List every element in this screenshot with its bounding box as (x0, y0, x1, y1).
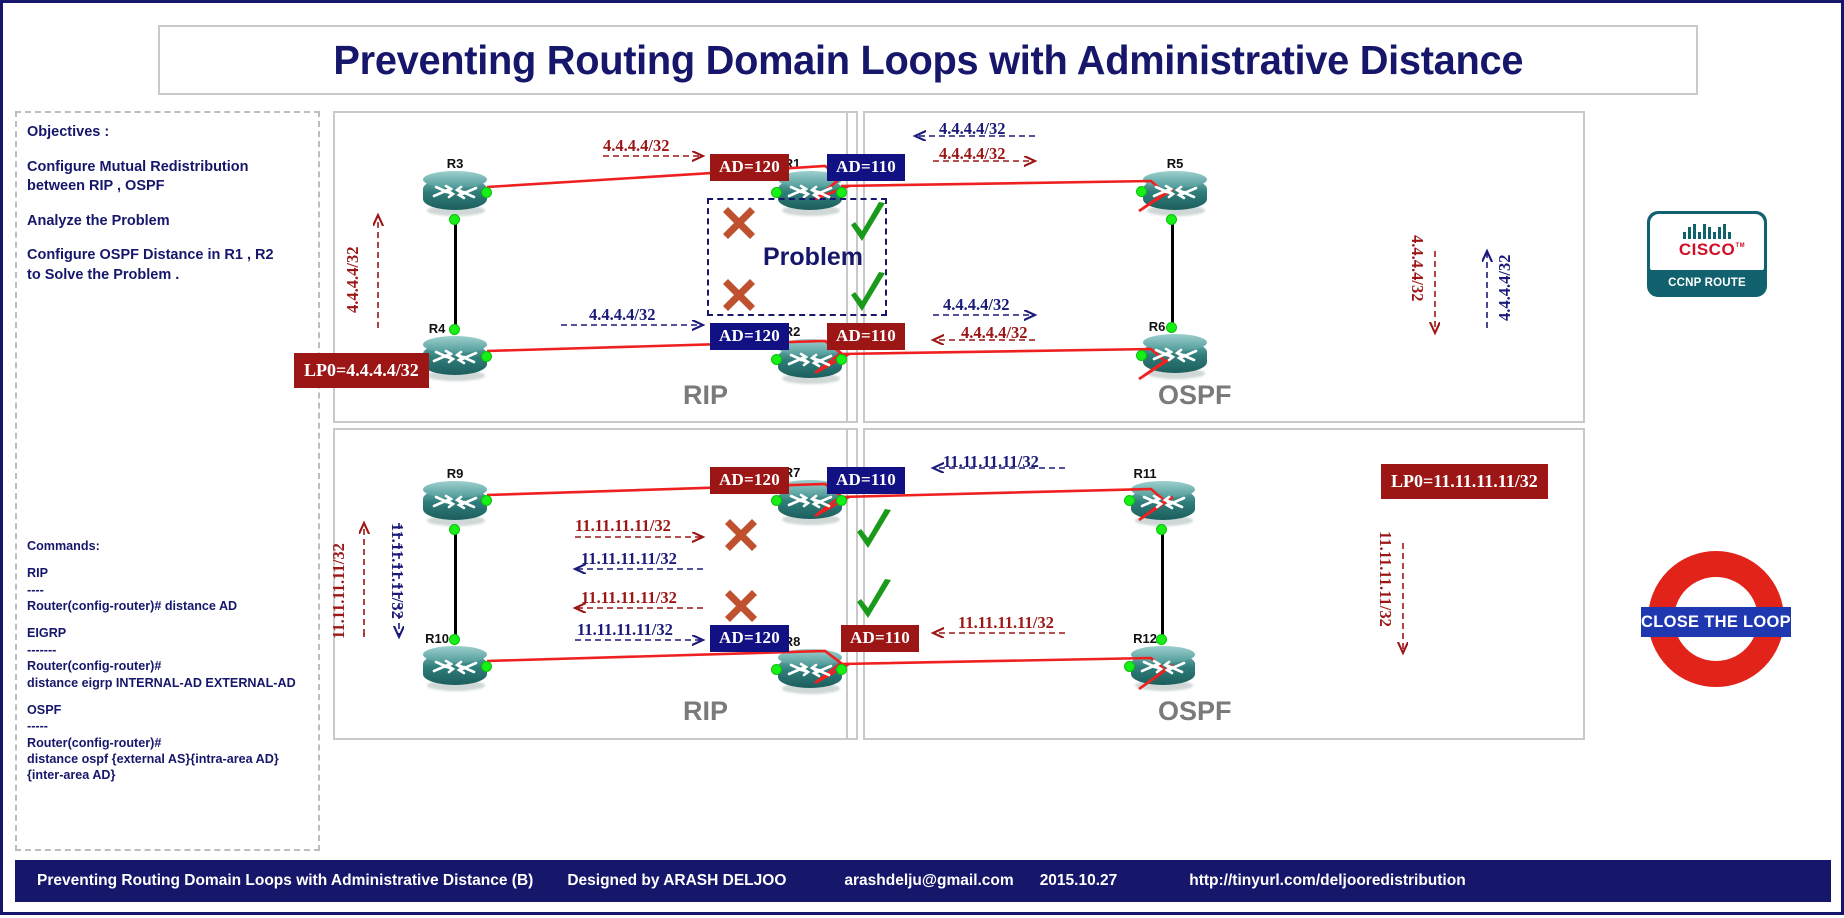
route-label: 11.11.11.11/32 (581, 549, 677, 569)
interface-dot (481, 661, 492, 672)
footer-doc-title: Preventing Routing Domain Loops with Adm… (37, 872, 533, 890)
interface-dot (836, 664, 847, 675)
loopback-badge-bottom: LP0=11.11.11.11/32 (1381, 464, 1548, 499)
ad-badge-r7-left: AD=120 (710, 467, 789, 494)
rip-title: RIP (27, 565, 310, 581)
protocol-label-rip-top: RIP (683, 380, 728, 411)
close-the-loop-label: CLOSE THE LOOP (1641, 613, 1791, 632)
interface-dot (449, 324, 460, 335)
footer-content: Preventing Routing Domain Loops with Adm… (15, 872, 1831, 890)
cisco-wordmark-text: CISCO (1679, 240, 1735, 259)
interface-dot (1124, 661, 1135, 672)
check-icon (847, 271, 889, 317)
route-label: 11.11.11.11/32 (958, 613, 1054, 633)
footer-date: 2015.10.27 (1040, 872, 1118, 890)
interface-dot (481, 187, 492, 198)
route-label: 11.11.11.11/32 (577, 620, 673, 640)
link-r9-r10 (454, 525, 457, 637)
router-arrows-icon (1140, 490, 1186, 514)
router-r10[interactable]: R10 (423, 646, 487, 692)
route-label-vertical: 11.11.11.11/32 (387, 523, 407, 619)
router-label-r3: R3 (447, 156, 464, 171)
interface-dot (836, 187, 847, 198)
route-label: 4.4.4.4/32 (943, 295, 1009, 315)
sidebar-panel: Objectives : Configure Mutual Redistribu… (15, 111, 320, 851)
link-r5-r6 (1171, 215, 1174, 325)
interface-dot (771, 664, 782, 675)
router-r9[interactable]: R9 (423, 481, 487, 527)
ad-badge-r7-right: AD=110 (827, 467, 905, 494)
interface-dot (481, 351, 492, 362)
route-label: 11.11.11.11/32 (581, 588, 677, 608)
router-arrows-icon (432, 490, 478, 514)
objective-item-2: Analyze the Problem (27, 212, 308, 232)
router-label-r4: R4 (429, 321, 446, 336)
ad-badge-r1-right: AD=110 (827, 154, 905, 181)
interface-dot (1156, 634, 1167, 645)
eigrp-command: Router(config-router)# distance eigrp IN… (27, 658, 310, 691)
router-label-r5: R5 (1167, 156, 1184, 171)
command-group-ospf: OSPF ----- Router(config-router)# distan… (27, 702, 310, 784)
problem-label: Problem (763, 243, 863, 272)
interface-dot (1166, 214, 1177, 225)
route-label: 4.4.4.4/32 (961, 323, 1027, 343)
interface-dot (771, 354, 782, 365)
router-arrows-icon (432, 655, 478, 679)
route-label-vertical: 4.4.4.4/32 (1407, 235, 1427, 301)
router-label-r10: R10 (425, 631, 449, 646)
interface-dot (449, 524, 460, 535)
check-icon (847, 201, 889, 247)
route-label: 4.4.4.4/32 (939, 119, 1005, 139)
router-label-r9: R9 (447, 466, 464, 481)
trademark-icon: TM (1736, 243, 1746, 249)
router-r8[interactable]: R8 (778, 649, 842, 695)
ad-badge-r1-left: AD=120 (710, 154, 789, 181)
footer-designer: Designed by ARASH DELJOO (567, 872, 786, 890)
interface-dot (449, 634, 460, 645)
router-arrows-icon (432, 345, 478, 369)
interface-dot (836, 495, 847, 506)
ospf-rule: ----- (27, 718, 310, 734)
loopback-badge-top: LP0=4.4.4.4/32 (294, 353, 429, 388)
ad-badge-r8-right: AD=110 (841, 625, 919, 652)
router-label-r6: R6 (1149, 319, 1166, 334)
ospf-command: Router(config-router)# distance ospf {ex… (27, 735, 310, 784)
objective-item-3: Configure OSPF Distance in R1 , R2 to So… (27, 246, 308, 285)
command-group-eigrp: EIGRP ------- Router(config-router)# dis… (27, 625, 310, 690)
rip-rule: ---- (27, 582, 310, 598)
close-the-loop-logo: CLOSE THE LOOP (1641, 551, 1791, 701)
router-label-r12: R12 (1133, 631, 1157, 646)
interface-dot (1136, 186, 1147, 197)
page-title: Preventing Routing Domain Loops with Adm… (333, 37, 1523, 84)
ospf-title: OSPF (27, 702, 310, 718)
link-r11-r12 (1161, 525, 1164, 637)
interface-dot (1124, 495, 1135, 506)
interface-dot (771, 495, 782, 506)
route-label: 11.11.11.11/32 (943, 452, 1039, 472)
interface-dot (449, 214, 460, 225)
cross-icon (721, 586, 761, 626)
interface-dot (1166, 322, 1177, 333)
route-label: 4.4.4.4/32 (589, 305, 655, 325)
router-label-r11: R11 (1134, 466, 1157, 481)
route-label-vertical: 11.11.11.11/32 (329, 543, 349, 639)
route-label-vertical: 4.4.4.4/32 (1495, 255, 1515, 321)
protocol-label-ospf-top: OSPF (1158, 380, 1232, 411)
footer-email: arashdelju@gmail.com (844, 872, 1013, 890)
route-label-vertical: 4.4.4.4/32 (343, 247, 363, 313)
commands-section: Commands: RIP ---- Router(config-router)… (27, 538, 310, 795)
objective-item-1: Configure Mutual Redistribution between … (27, 158, 308, 197)
route-label-vertical: 11.11.11.11/32 (1375, 531, 1395, 627)
cisco-wordmark: CISCO TM (1679, 240, 1735, 260)
protocol-label-ospf-bottom: OSPF (1158, 696, 1232, 727)
link-r3-r4 (454, 215, 457, 327)
command-group-rip: RIP ---- Router(config-router)# distance… (27, 565, 310, 614)
route-label: 4.4.4.4/32 (939, 144, 1005, 164)
eigrp-title: EIGRP (27, 625, 310, 641)
router-r6[interactable]: R6 (1143, 334, 1207, 380)
interface-dot (1156, 524, 1167, 535)
commands-heading: Commands: (27, 538, 310, 554)
router-r3[interactable]: R3 (423, 171, 487, 217)
interface-dot (481, 495, 492, 506)
router-arrows-icon (432, 180, 478, 204)
router-arrows-icon (1152, 343, 1198, 367)
route-label: 4.4.4.4/32 (603, 136, 669, 156)
close-the-loop-bar: CLOSE THE LOOP (1641, 607, 1791, 637)
router-r12[interactable]: R12 (1131, 646, 1195, 692)
route-label: 11.11.11.11/32 (575, 516, 671, 536)
ad-badge-r8-left: AD=120 (710, 625, 789, 652)
router-arrows-icon (1152, 180, 1198, 204)
protocol-label-rip-bottom: RIP (683, 696, 728, 727)
ad-badge-r2-left: AD=120 (710, 323, 789, 350)
diagram-canvas: Preventing Routing Domain Loops with Adm… (3, 3, 1841, 912)
cisco-logo: CISCO TM (1650, 214, 1764, 270)
router-r5[interactable]: R5 (1143, 171, 1207, 217)
title-box: Preventing Routing Domain Loops with Adm… (158, 25, 1698, 95)
check-icon (853, 578, 895, 624)
footer-url: http://tinyurl.com/deljooredistribution (1189, 872, 1465, 890)
eigrp-rule: ------- (27, 642, 310, 658)
objectives-heading: Objectives : (27, 123, 308, 143)
cross-icon (721, 515, 761, 555)
ad-badge-r2-right: AD=110 (827, 323, 905, 350)
rip-command: Router(config-router)# distance AD (27, 598, 310, 614)
router-r11[interactable]: R11 (1131, 481, 1195, 527)
check-icon (853, 508, 895, 554)
interface-dot (1136, 350, 1147, 361)
interface-dot (836, 354, 847, 365)
cross-icon (719, 203, 759, 243)
router-arrows-icon (787, 348, 833, 372)
interface-dot (771, 187, 782, 198)
router-arrows-icon (1140, 655, 1186, 679)
router-arrows-icon (787, 658, 833, 682)
cisco-certification-label: CCNP ROUTE (1650, 270, 1764, 289)
cross-icon (719, 275, 759, 315)
cisco-bars-icon (1683, 224, 1731, 239)
footer-bar: Preventing Routing Domain Loops with Adm… (15, 860, 1831, 902)
cisco-logo-badge: CISCO TM CCNP ROUTE (1647, 211, 1767, 297)
router-r4[interactable]: R4 (423, 336, 487, 382)
